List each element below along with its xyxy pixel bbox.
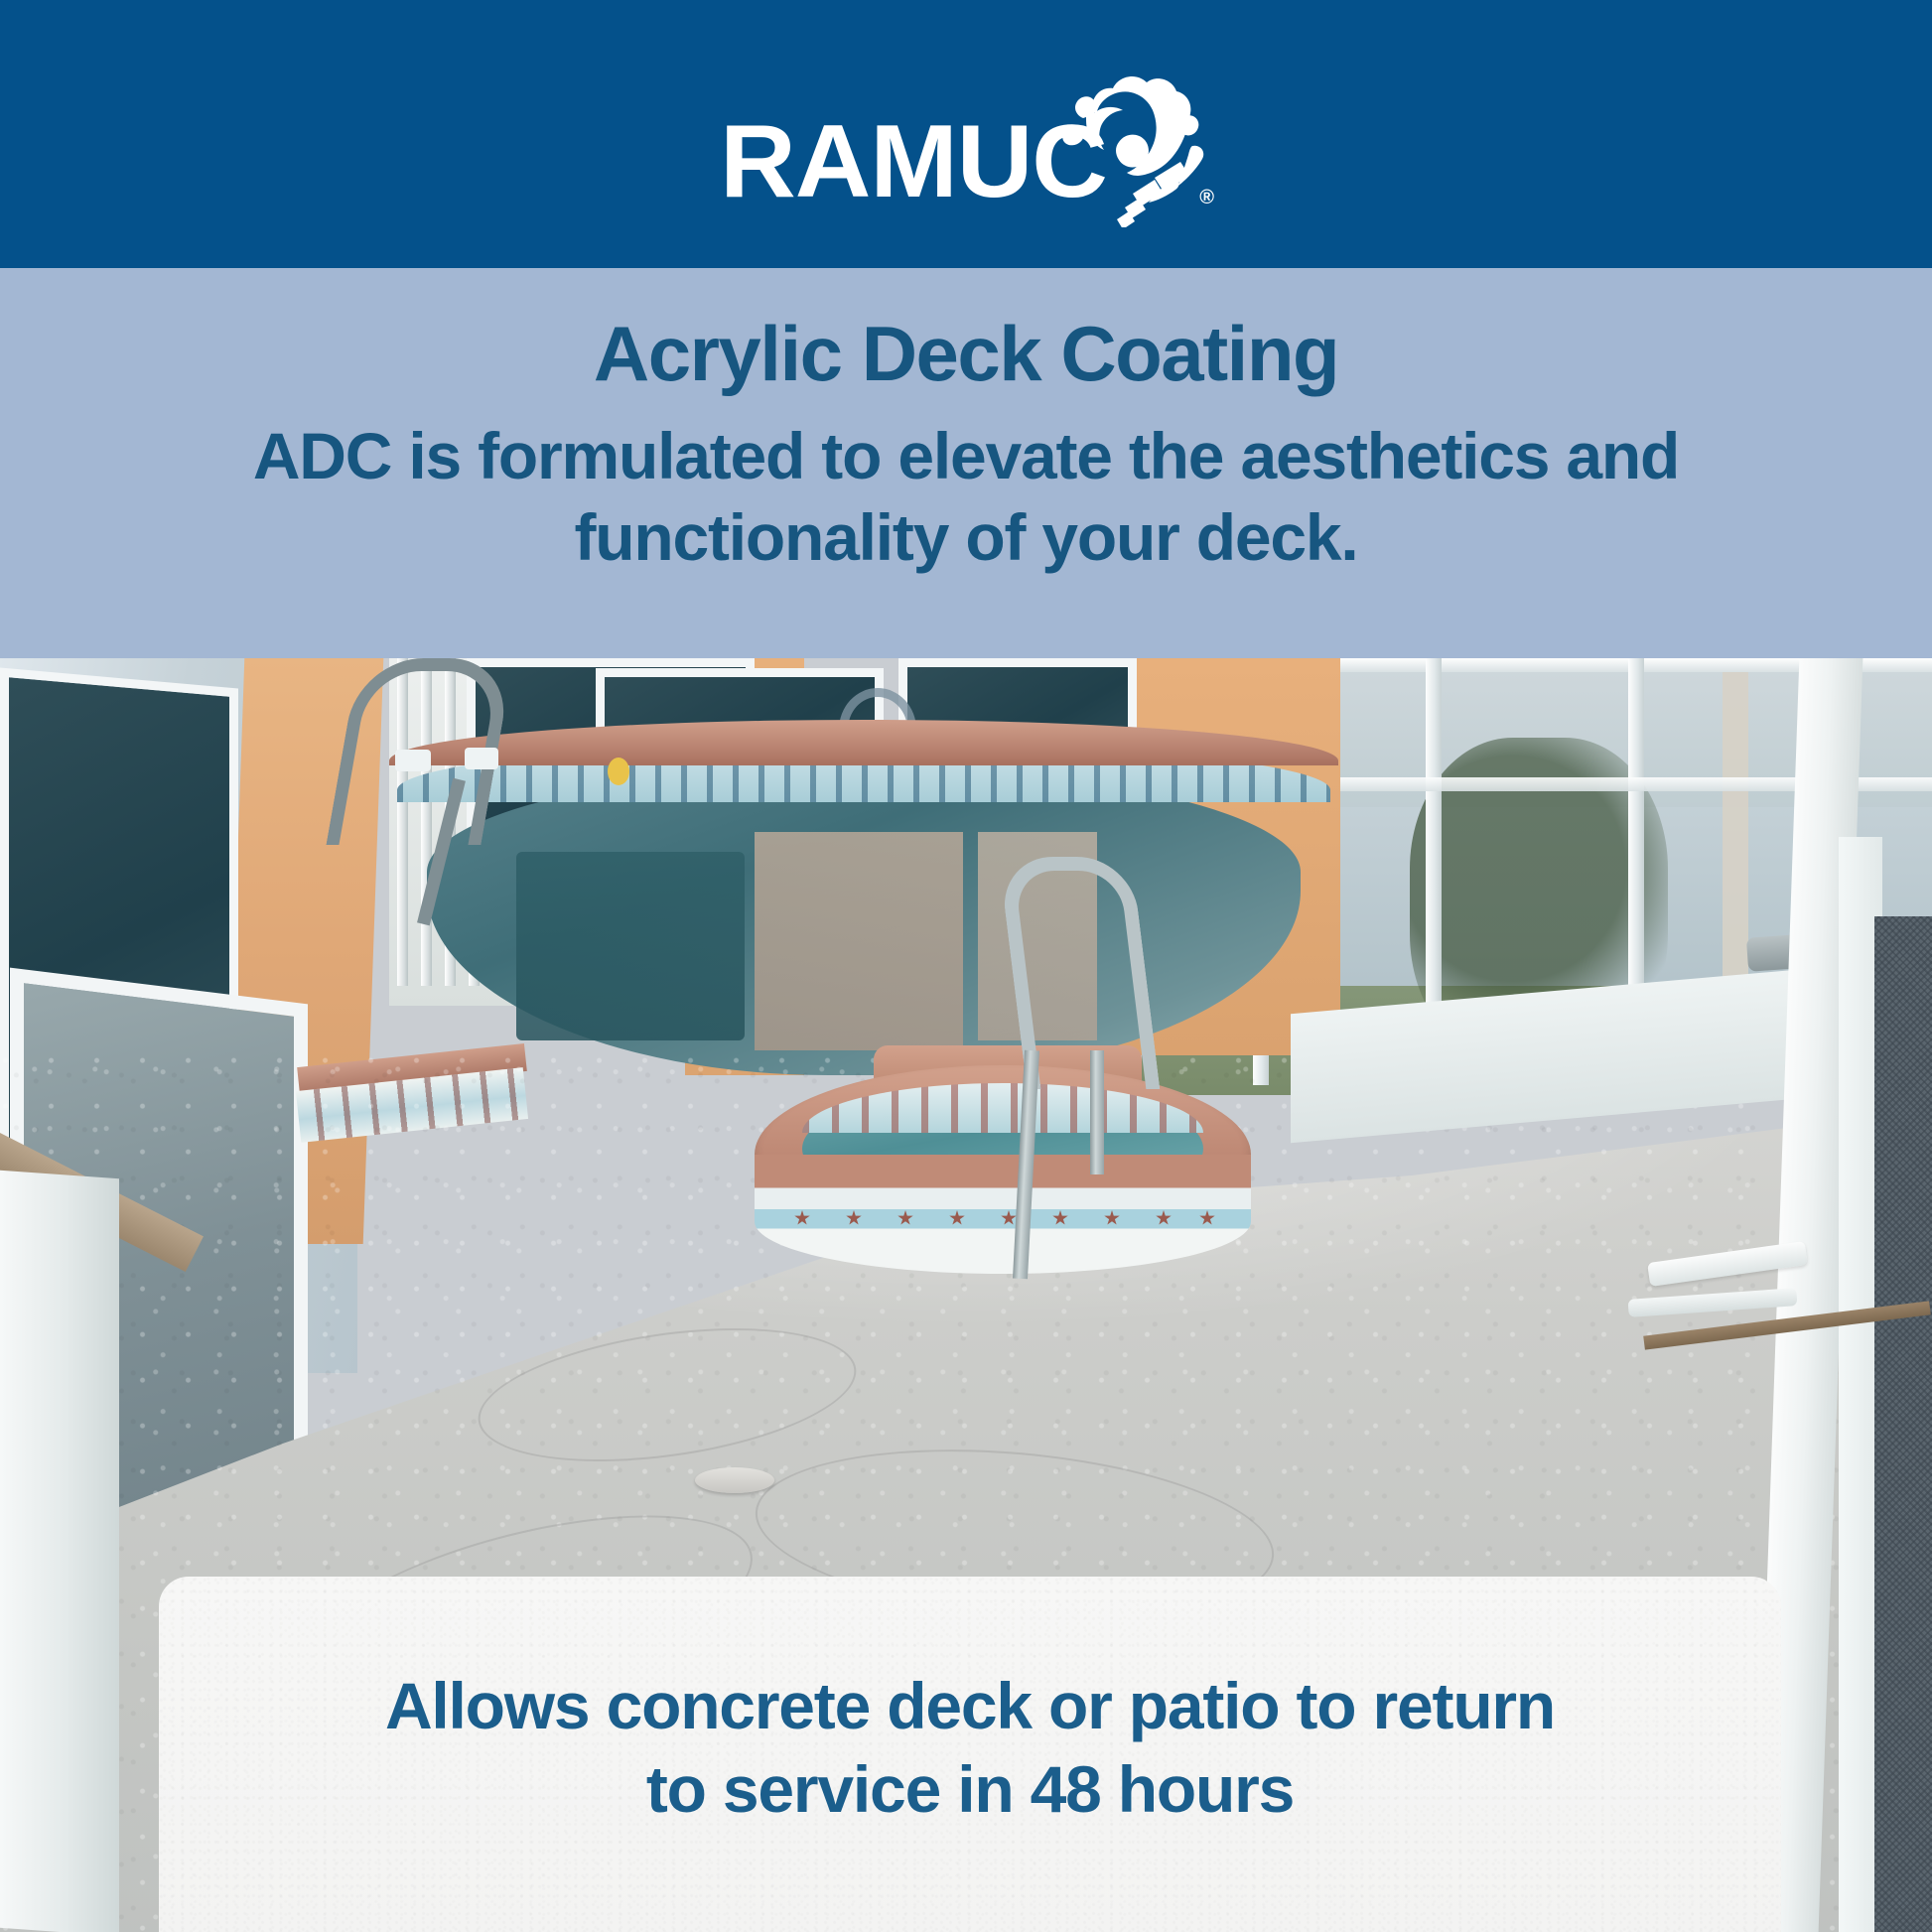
poster-root: RAMUC ® (0, 0, 1932, 1932)
caption-card: Allows concrete deck or patio to return … (159, 1577, 1781, 1932)
page-title: Acrylic Deck Coating (89, 294, 1843, 401)
registered-trademark-symbol: ® (1199, 187, 1214, 209)
page-subtitle: ADC is formulated to elevate the aesthet… (89, 415, 1843, 578)
brand-wordmark: RAMUC (720, 110, 1107, 213)
spa-handrail-leg-b (1090, 1050, 1104, 1174)
handrail-bracket-1 (395, 750, 431, 771)
handrail-bracket-2 (465, 748, 498, 769)
door-post-left (0, 1171, 119, 1932)
deck-drain-cap (695, 1467, 774, 1493)
pool-float-toy (608, 758, 629, 785)
post-exterior (1723, 658, 1748, 986)
pool-reflection-door (516, 852, 745, 1040)
caption-text: Allows concrete deck or patio to return … (384, 1664, 1556, 1831)
spa-decorative-tile-band (755, 1155, 1251, 1274)
title-band: Acrylic Deck Coating ADC is formulated t… (0, 268, 1932, 658)
brand-header-bar: RAMUC ® (0, 0, 1932, 268)
screen-mesh (1874, 916, 1932, 1932)
pool-reflection-wall (755, 832, 963, 1050)
ramuc-logo: RAMUC ® (724, 55, 1208, 213)
